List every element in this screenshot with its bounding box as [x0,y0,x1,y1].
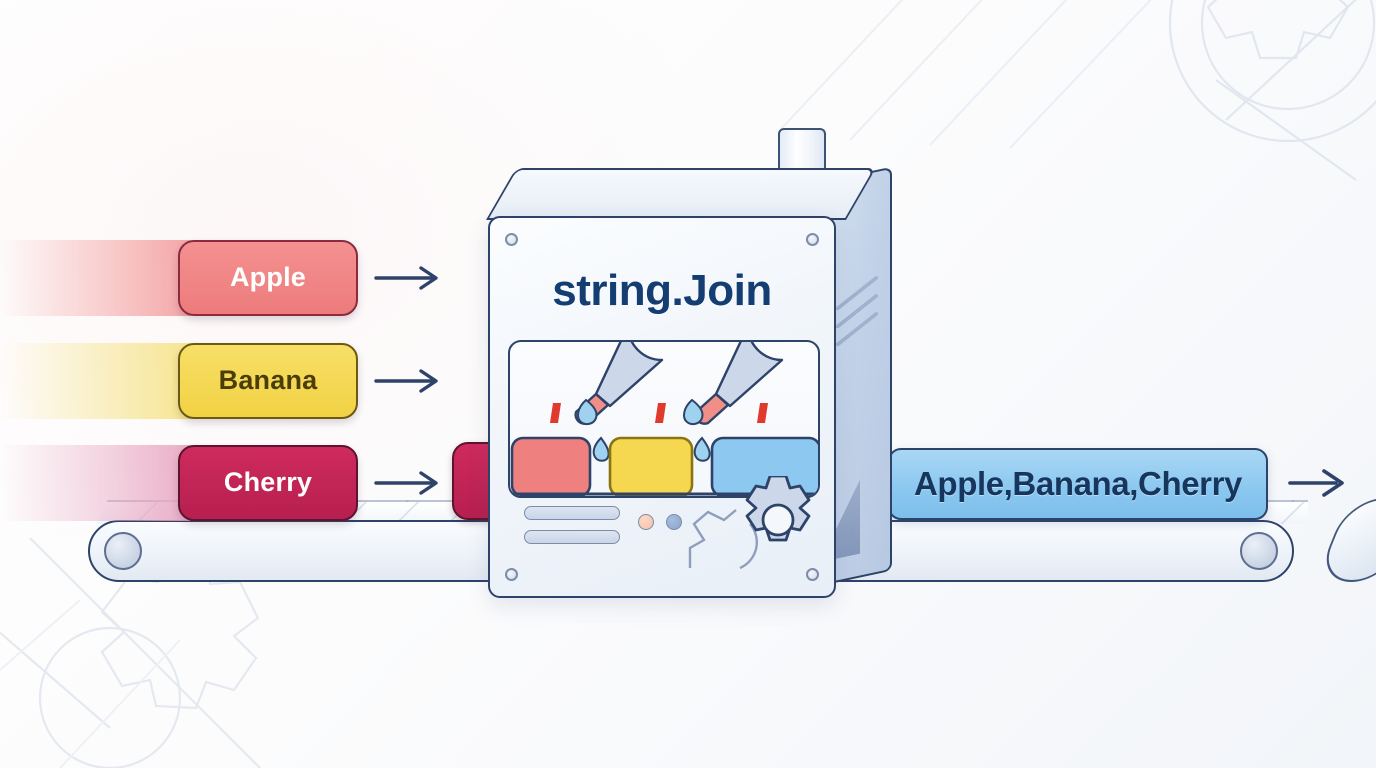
flow-arrow-cherry [374,469,446,497]
screw-icon-top-right [806,233,819,246]
input-row-apple: Apple [0,240,470,316]
input-chip-label-banana: Banana [219,365,318,396]
flow-arrow-banana [374,367,446,395]
nozzle-arm-2 [696,342,782,424]
input-chip-apple[interactable]: Apple [178,240,358,316]
input-chip-banana[interactable]: Banana [178,343,358,419]
gear-icon-main [747,476,809,540]
gear-watermark-top-right [1106,0,1376,230]
roller-right [1240,532,1278,570]
led-indicator-blue [666,514,682,530]
window-contents [510,342,820,498]
gear-icon[interactable] [684,476,816,572]
viewing-window [508,340,820,498]
input-row-cherry: Cherry [0,445,470,521]
machine-front-panel: string.Join [488,216,836,598]
control-slider-1[interactable] [524,506,620,520]
roller-left [104,532,142,570]
motion-trail-cherry [0,445,190,521]
motion-trail-banana [0,343,190,419]
screw-icon-top-left [505,233,518,246]
output-label: Apple,Banana,Cherry [914,465,1242,503]
machine-title: string.Join [490,266,834,316]
input-chip-label-cherry: Cherry [224,467,312,498]
join-machine: string.Join [470,168,920,612]
vent-lines-icon [832,274,888,358]
window-block-yellow [610,438,692,496]
led-indicator-orange [638,514,654,530]
machine-top-bevel [486,168,876,220]
control-slider-2[interactable] [524,530,620,544]
motion-trail-apple [0,240,190,316]
screw-icon-bottom-left [505,568,518,581]
window-block-red [512,438,590,496]
diagonal-lines-watermark-lower [0,600,330,768]
input-row-banana: Banana [0,343,470,419]
gear-icon-small-outline [690,510,757,568]
conveyor-right-cap [1315,498,1376,582]
output-bar[interactable]: Apple,Banana,Cherry [888,448,1268,520]
illustration-canvas: Apple Banana Cherry [0,0,1376,768]
input-chip-label-apple: Apple [230,262,306,293]
flow-arrow-output [1288,462,1352,509]
flow-arrow-apple [374,264,446,292]
input-chip-cherry[interactable]: Cherry [178,445,358,521]
diagonal-lines-watermark [760,0,1180,150]
